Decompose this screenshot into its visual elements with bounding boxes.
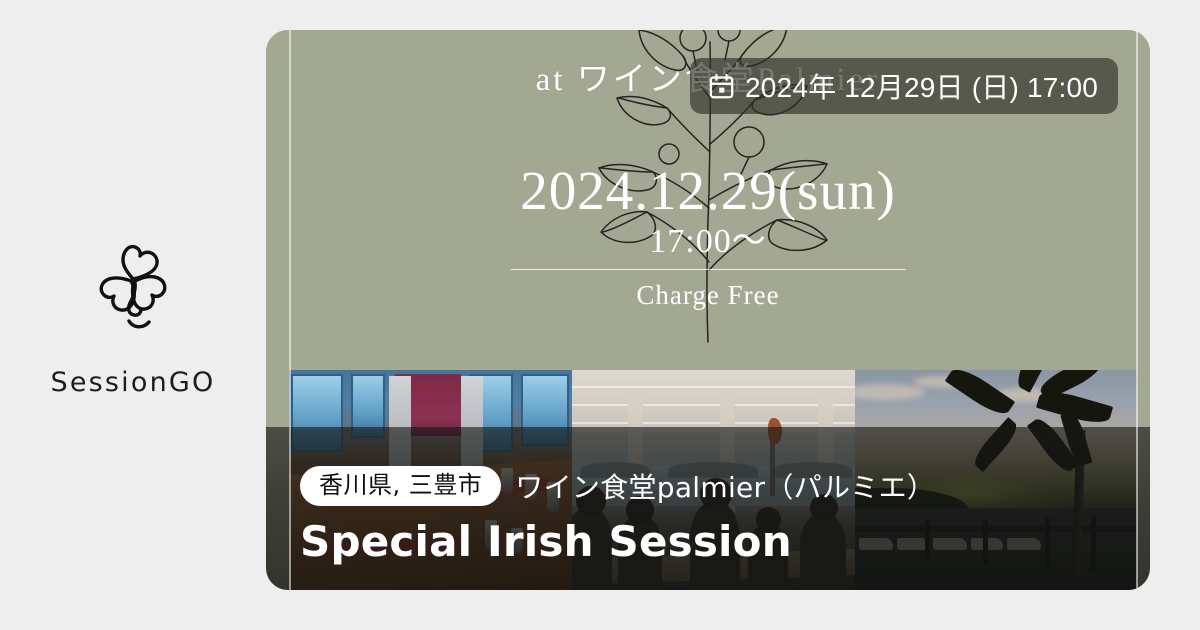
- region-badge: 香川県, 三豊市: [300, 466, 501, 506]
- brand-name: SessionGO: [51, 367, 216, 398]
- shamrock-clover-icon: [73, 233, 193, 349]
- flyer-big-date: 2024.12.29(sun): [520, 162, 896, 220]
- flyer-divider: [511, 269, 906, 270]
- calendar-icon: [708, 73, 735, 100]
- brand-panel: SessionGO: [0, 0, 266, 630]
- event-card[interactable]: at ワイン食堂Palmier 2024.12.29(sun) 17:00〜 C…: [266, 30, 1150, 590]
- event-info-block: 香川県, 三豊市 ワイン食堂palmier（パルミエ） Special Iris…: [300, 466, 1124, 564]
- flyer-charge: Charge Free: [636, 280, 779, 311]
- date-badge-text: 2024年 12月29日 (日) 17:00: [745, 66, 1098, 106]
- venue-name: ワイン食堂palmier（パルミエ）: [515, 466, 935, 506]
- venue-row: 香川県, 三豊市 ワイン食堂palmier（パルミエ）: [300, 466, 1124, 506]
- event-title: Special Irish Session: [300, 520, 1124, 564]
- date-badge: 2024年 12月29日 (日) 17:00: [690, 58, 1118, 114]
- flyer-time: 17:00〜: [649, 222, 766, 261]
